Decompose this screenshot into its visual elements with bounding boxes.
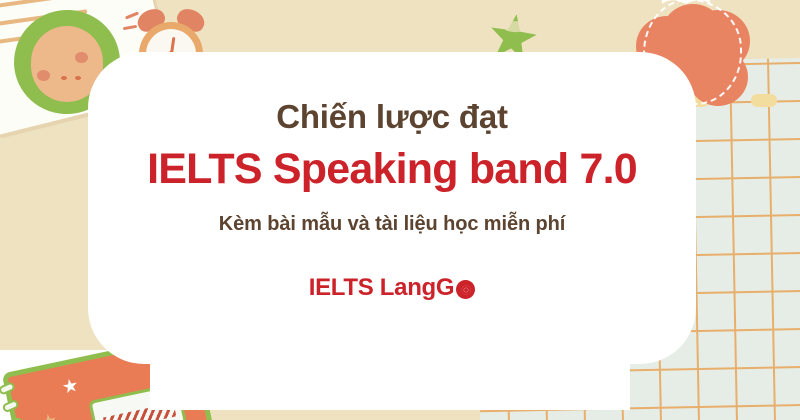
grid-paper-tab-3: [751, 94, 777, 107]
brand-target-o-icon: [456, 280, 475, 299]
poster-text-block: Chiến lược đạt IELTS Speaking band 7.0 K…: [88, 52, 696, 364]
poster-eyebrow: Chiến lược đạt: [276, 100, 508, 135]
poster-subhead: Kèm bài mẫu và tài liệu học miễn phí: [219, 213, 566, 236]
poster-canvas: Chiến lược đạt IELTS Speaking band 7.0 K…: [0, 0, 800, 420]
poster-headline: IELTS Speaking band 7.0: [147, 146, 637, 193]
ribbon-bow-icon: [658, 0, 716, 10]
brand-logo-text: IELTS LangG: [309, 274, 455, 302]
brand-logo: IELTS LangG: [309, 274, 476, 302]
